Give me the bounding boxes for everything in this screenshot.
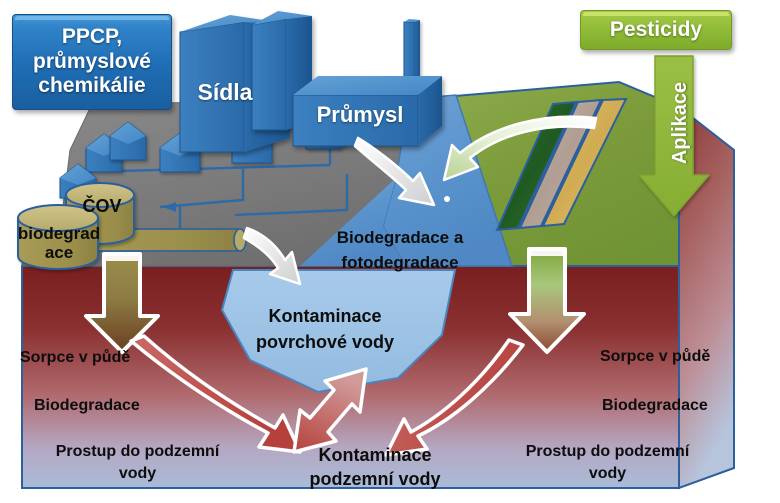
diagram-canvas: PPCP, průmyslové chemikálie Pesticidy Sí…	[0, 0, 780, 503]
biodegradation-tank	[18, 205, 98, 269]
callout-ppcp[interactable]: PPCP, průmyslové chemikálie	[12, 14, 172, 110]
industry-hall	[293, 76, 442, 146]
callout-pesticidy[interactable]: Pesticidy	[580, 10, 732, 50]
river-marker-dot	[444, 196, 450, 202]
